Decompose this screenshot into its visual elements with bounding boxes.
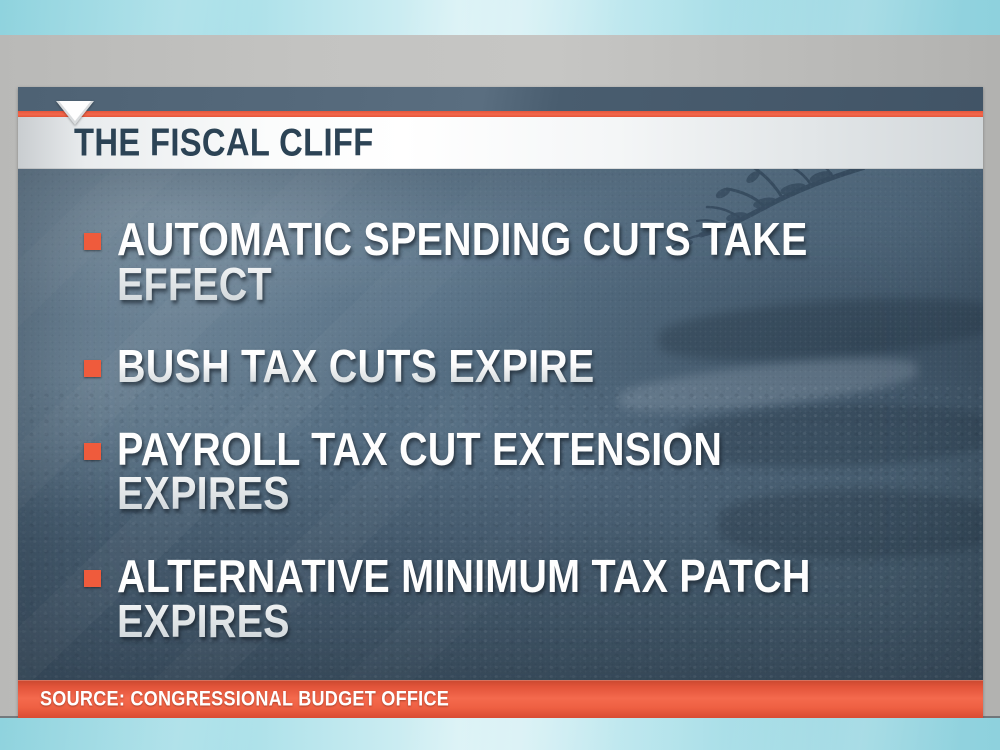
graphic-frame: THE FISCAL CLIFF	[0, 35, 1000, 718]
list-item-label: AUTOMATIC SPENDING CUTS TAKE EFFECT	[117, 217, 839, 306]
list-item-label: PAYROLL TAX CUT EXTENSION EXPIRES	[117, 427, 839, 516]
backdrop-bottom-band	[0, 718, 1000, 750]
source-bar: SOURCE: CONGRESSIONAL BUDGET OFFICE	[18, 680, 983, 718]
bullet-list: AUTOMATIC SPENDING CUTS TAKE EFFECT BUSH…	[18, 169, 983, 680]
list-item-label: ALTERNATIVE MINIMUM TAX PATCH EXPIRES	[117, 554, 839, 643]
card-header-strip	[18, 87, 983, 117]
list-item: BUSH TAX CUTS EXPIRE	[84, 344, 957, 389]
list-item: ALTERNATIVE MINIMUM TAX PATCH EXPIRES	[84, 554, 957, 643]
bullet-square-icon	[84, 443, 101, 460]
bullet-square-icon	[84, 570, 101, 587]
title-bar: THE FISCAL CLIFF	[18, 117, 983, 169]
list-item: PAYROLL TAX CUT EXTENSION EXPIRES	[84, 427, 957, 516]
list-item: AUTOMATIC SPENDING CUTS TAKE EFFECT	[84, 217, 957, 306]
page-title: THE FISCAL CLIFF	[74, 124, 374, 163]
bullet-square-icon	[84, 233, 101, 250]
broadcast-graphic: THE FISCAL CLIFF	[0, 0, 1000, 750]
triangle-down-icon	[56, 101, 94, 125]
backdrop-top-band	[0, 0, 1000, 35]
card-body: AUTOMATIC SPENDING CUTS TAKE EFFECT BUSH…	[18, 169, 983, 680]
fiscal-cliff-card: THE FISCAL CLIFF	[18, 87, 983, 718]
source-label: SOURCE: CONGRESSIONAL BUDGET OFFICE	[40, 689, 449, 710]
list-item-label: BUSH TAX CUTS EXPIRE	[117, 344, 839, 389]
bullet-square-icon	[84, 360, 101, 377]
